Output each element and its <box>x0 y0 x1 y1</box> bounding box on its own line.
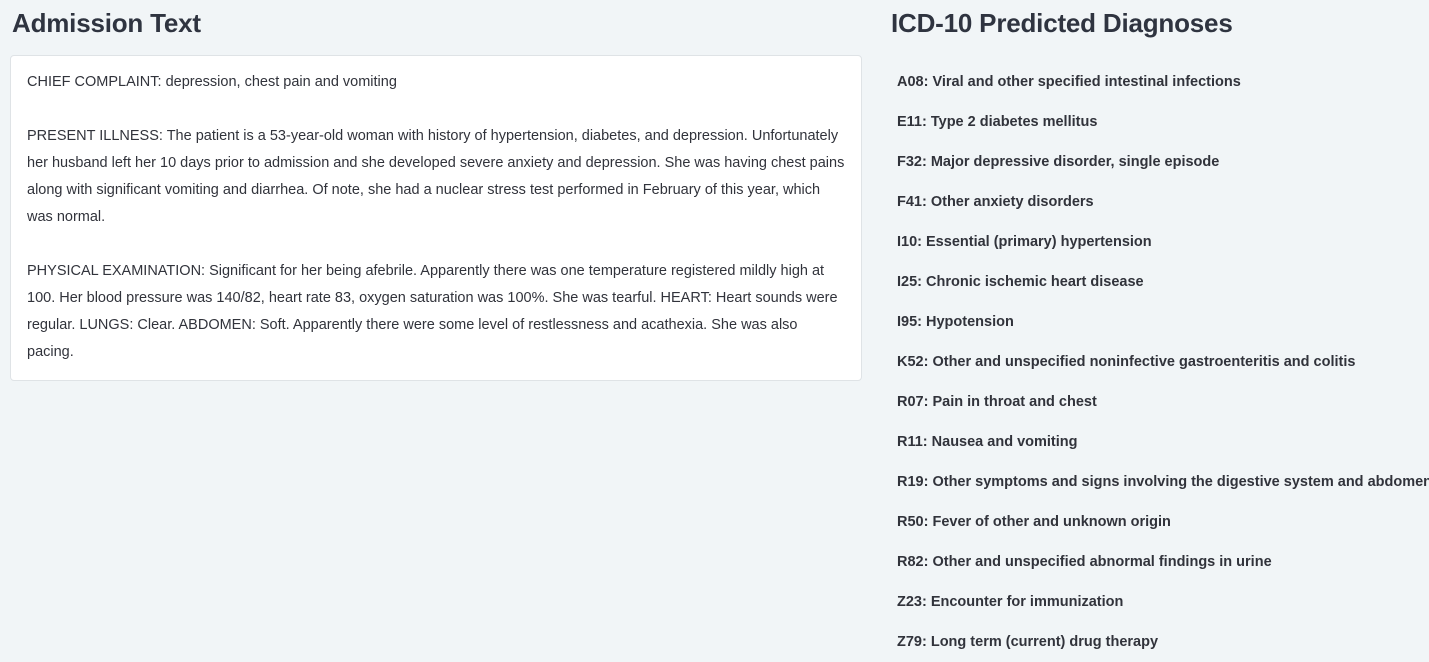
list-item[interactable]: E11: Type 2 diabetes mellitus <box>889 102 1425 142</box>
admission-note-body: CHIEF COMPLAINT: depression, chest pain … <box>27 69 845 366</box>
list-item[interactable]: I25: Chronic ischemic heart disease <box>889 262 1425 302</box>
diagnosis-label: R50: Fever of other and unknown origin <box>897 512 1171 532</box>
diagnosis-label: K52: Other and unspecified noninfective … <box>897 352 1355 372</box>
list-item[interactable]: Z79: Long term (current) drug therapy <box>889 622 1425 662</box>
list-item[interactable]: A08: Viral and other specified intestina… <box>889 62 1425 102</box>
diagnosis-label: F32: Major depressive disorder, single e… <box>897 152 1219 172</box>
list-item[interactable]: R82: Other and unspecified abnormal find… <box>889 542 1425 582</box>
diagnoses-column: ICD-10 Predicted Diagnoses A08: Viral an… <box>873 0 1429 662</box>
page-title-predicted-diagnoses: ICD-10 Predicted Diagnoses <box>891 6 1425 40</box>
list-item[interactable]: I10: Essential (primary) hypertension <box>889 222 1425 262</box>
diagnosis-label: R07: Pain in throat and chest <box>897 392 1097 412</box>
list-item[interactable]: I95: Hypotension <box>889 302 1425 342</box>
list-item[interactable]: F32: Major depressive disorder, single e… <box>889 142 1425 182</box>
diagnosis-label: R19: Other symptoms and signs involving … <box>897 472 1429 492</box>
app-root: Admission Text CHIEF COMPLAINT: depressi… <box>0 0 1429 650</box>
page-title-admission-text: Admission Text <box>12 6 862 40</box>
list-item[interactable]: R11: Nausea and vomiting <box>889 422 1425 462</box>
diagnosis-label: I25: Chronic ischemic heart disease <box>897 272 1144 292</box>
diagnosis-label: F41: Other anxiety disorders <box>897 192 1094 212</box>
list-item[interactable]: Z23: Encounter for immunization <box>889 582 1425 622</box>
diagnosis-label: I10: Essential (primary) hypertension <box>897 232 1152 252</box>
diagnosis-label: Z23: Encounter for immunization <box>897 592 1123 612</box>
list-item[interactable]: F41: Other anxiety disorders <box>889 182 1425 222</box>
diagnoses-list: A08: Viral and other specified intestina… <box>889 62 1425 662</box>
admission-text-column: Admission Text CHIEF COMPLAINT: depressi… <box>0 0 873 381</box>
diagnosis-label: E11: Type 2 diabetes mellitus <box>897 112 1097 132</box>
list-item[interactable]: K52: Other and unspecified noninfective … <box>889 342 1425 382</box>
diagnosis-label: A08: Viral and other specified intestina… <box>897 72 1241 92</box>
diagnosis-label: I95: Hypotension <box>897 312 1014 332</box>
list-item[interactable]: R50: Fever of other and unknown origin <box>889 502 1425 542</box>
admission-text-box: CHIEF COMPLAINT: depression, chest pain … <box>10 55 862 381</box>
diagnosis-label: R82: Other and unspecified abnormal find… <box>897 552 1272 572</box>
list-item[interactable]: R19: Other symptoms and signs involving … <box>889 462 1425 502</box>
diagnosis-label: Z79: Long term (current) drug therapy <box>897 632 1158 652</box>
list-item[interactable]: R07: Pain in throat and chest <box>889 382 1425 422</box>
diagnosis-label: R11: Nausea and vomiting <box>897 432 1078 452</box>
